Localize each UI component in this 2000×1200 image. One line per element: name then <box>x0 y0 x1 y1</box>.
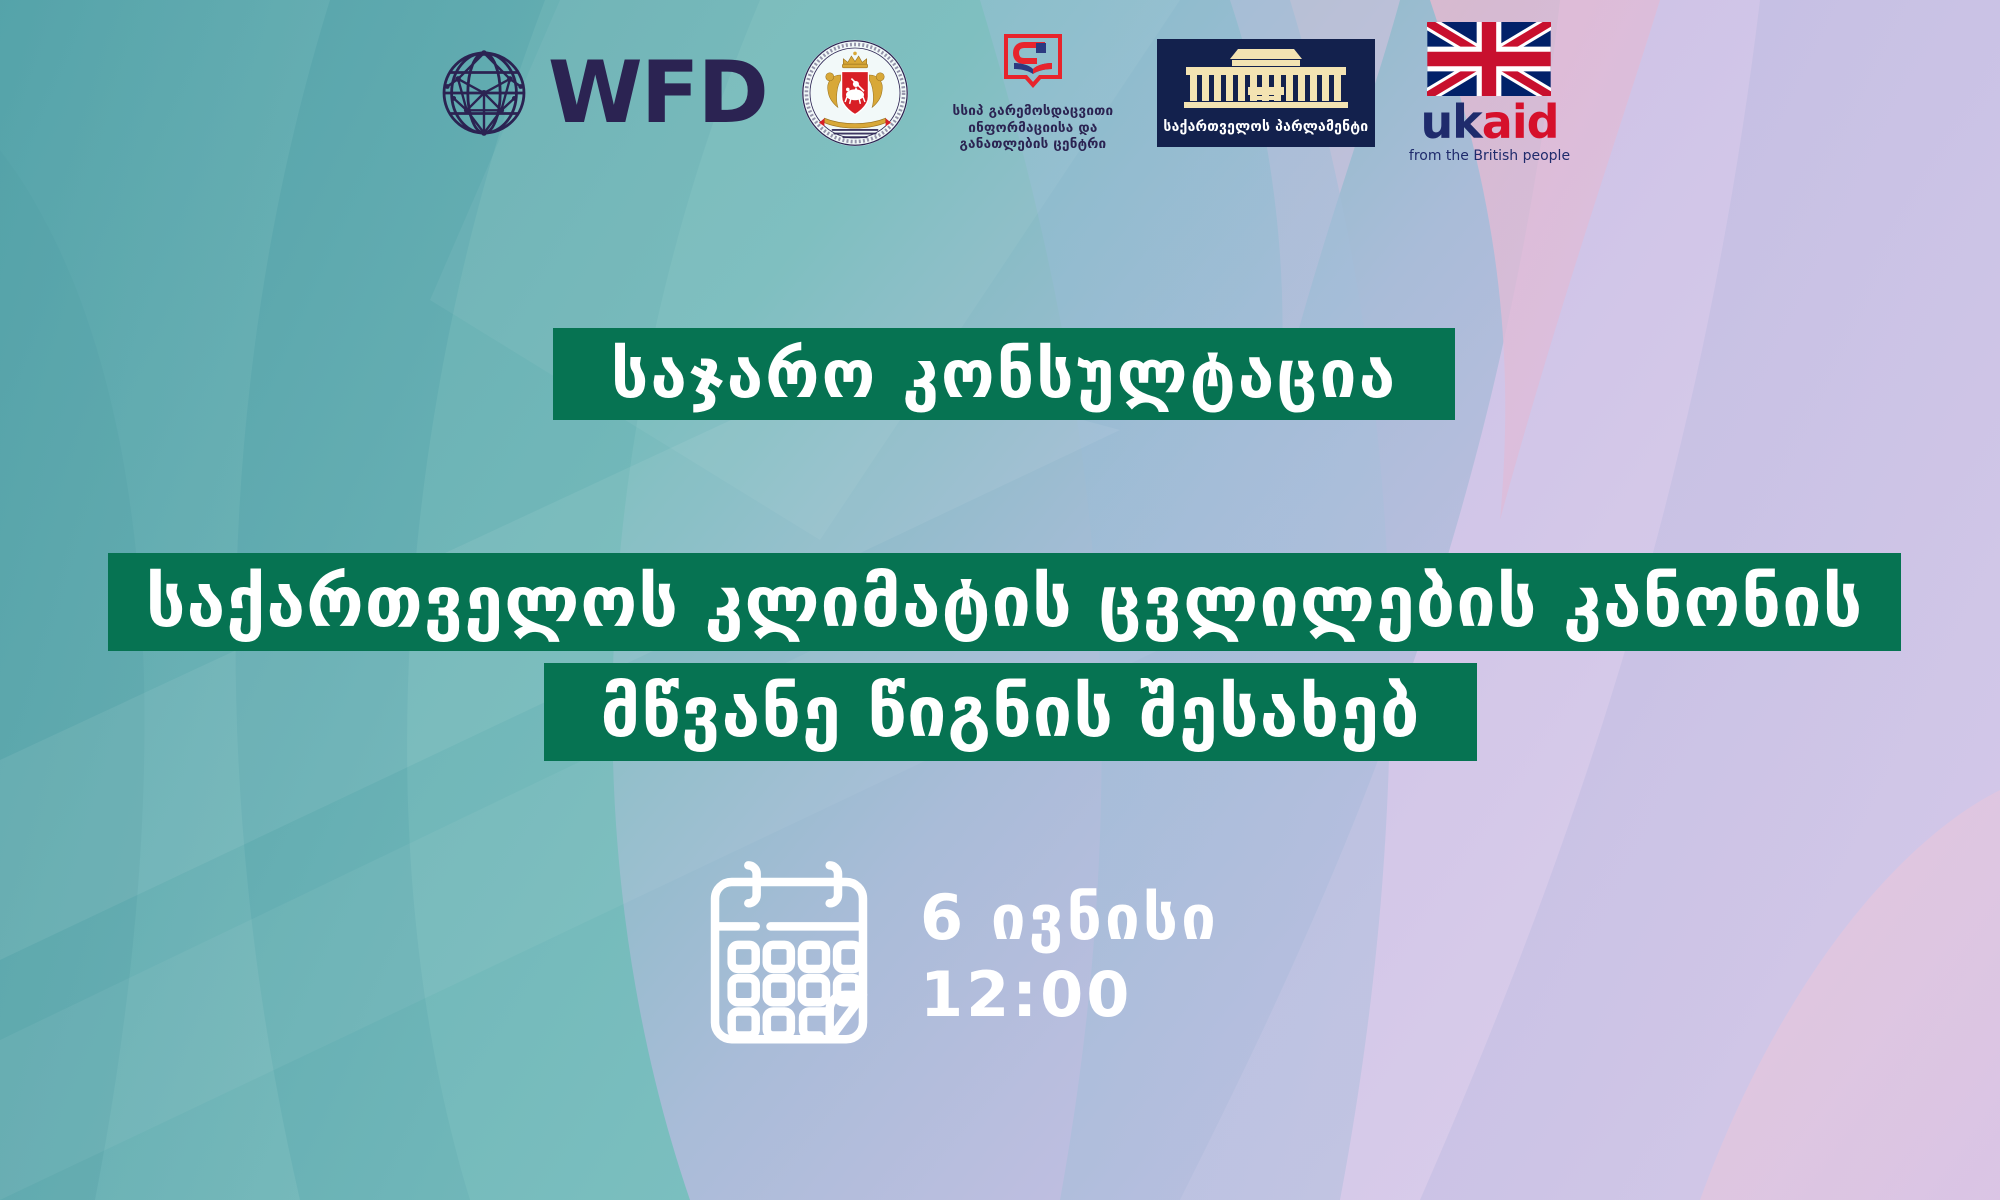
uk-aid-tagline: from the British people <box>1409 148 1570 164</box>
environmental-information-and-education-center-logo: სსიპ გარემოსდაცვითი ინფორმაციისა და განა… <box>943 33 1123 152</box>
event-datetime-text: 6 ივნისი 12:00 <box>920 881 1219 1031</box>
event-time: 12:00 <box>920 958 1219 1031</box>
uk-aid-word-uk: uk <box>1420 95 1481 149</box>
subtitle-line-1: საქართველოს კლიმატის ცვლილების კანონის <box>108 553 1901 651</box>
uk-aid-logo: ukaid from the British people <box>1409 22 1570 164</box>
calendar-icon <box>700 858 878 1054</box>
ministry-of-environmental-protection-and-agriculture-logo <box>801 39 909 147</box>
shield-book-icon <box>1002 33 1064 99</box>
partner-logo-bar: WFD <box>0 22 2000 164</box>
event-date: 6 ივნისი <box>920 881 1219 954</box>
event-datetime: 6 ივნისი 12:00 <box>700 858 1219 1054</box>
page-title: საჯარო კონსულტაცია <box>553 328 1455 420</box>
eiec-caption: სსიპ გარემოსდაცვითი ინფორმაციისა და განა… <box>943 103 1123 152</box>
wfd-wordmark: WFD <box>548 50 767 136</box>
globe-icon <box>430 39 538 147</box>
parliament-building-icon <box>1178 45 1354 117</box>
wfd-logo: WFD <box>430 39 767 147</box>
georgia-coat-of-arms-seal-icon <box>801 39 909 147</box>
uk-aid-word-aid: aid <box>1482 95 1559 149</box>
parliament-caption: საქართველოს პარლამენტი <box>1163 119 1368 135</box>
uk-aid-wordmark: ukaid <box>1420 99 1558 145</box>
subtitle-line-2: მწვანე წიგნის შესახებ <box>544 663 1477 761</box>
union-jack-flag-icon <box>1427 22 1551 96</box>
parliament-of-georgia-logo: საქართველოს პარლამენტი <box>1157 39 1375 147</box>
